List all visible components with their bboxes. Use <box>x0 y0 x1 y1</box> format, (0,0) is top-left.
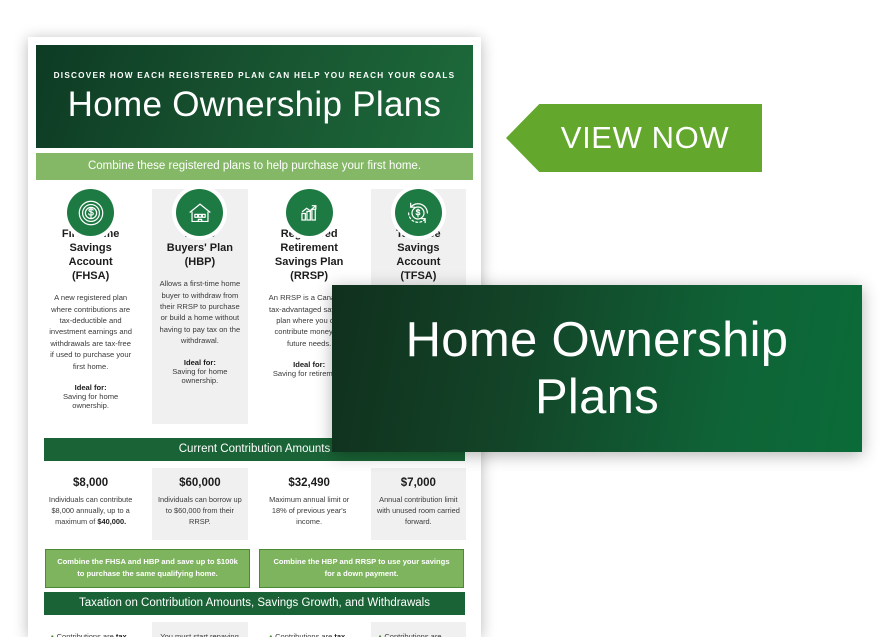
view-now-label: VIEW NOW <box>539 120 729 156</box>
taxation-band: Taxation on Contribution Amounts, Saving… <box>44 592 465 615</box>
bullet-icon: • <box>51 631 54 637</box>
hero-kicker: DISCOVER HOW EACH REGISTERED PLAN CAN HE… <box>54 71 456 80</box>
plan-ideal-text: Saving for home ownership. <box>158 367 241 385</box>
amount-description: Individuals can contribute $8,000 annual… <box>48 494 133 527</box>
amount-description: Individuals can borrow up to $60,000 fro… <box>157 494 242 527</box>
amounts-row: $8,000 Individuals can contribute $8,000… <box>36 468 473 540</box>
taxation-item: •Contributions are NOT tax deductible. <box>379 631 459 637</box>
taxation-item: •Contributions are tax deductible. <box>51 631 131 637</box>
plan-icon-wrap <box>36 189 145 236</box>
amount-cell-rrsp: $32,490 Maximum annual limit or 18% of p… <box>255 468 364 540</box>
taxation-item: •Contributions are tax deductible. <box>270 631 350 637</box>
plan-description: Allows a first-time home buyer to withdr… <box>158 278 241 346</box>
plan-icon-wrap <box>255 189 364 236</box>
taxation-item: You must start repaying your RRSP withdr… <box>160 631 240 637</box>
amount-value: $8,000 <box>48 477 133 489</box>
amount-description: Annual contribution limit with unused ro… <box>376 494 461 527</box>
taxation-cell-fhsa: •Contributions are tax deductible. •Savi… <box>36 622 145 637</box>
plan-description: A new registered plan where contribution… <box>49 292 132 372</box>
plan-ideal-text: Saving for home ownership. <box>49 392 132 410</box>
view-now-ribbon[interactable]: VIEW NOW <box>506 104 762 172</box>
taxation-row: •Contributions are tax deductible. •Savi… <box>36 622 473 637</box>
combine-tip-hbp-rrsp[interactable]: Combine the HBP and RRSP to use your sav… <box>259 549 464 588</box>
combine-tip-fhsa-hbp[interactable]: Combine the FHSA and HBP and save up to … <box>45 549 250 588</box>
hero-title: Home Ownership Plans <box>68 87 442 122</box>
amount-value: $32,490 <box>267 477 352 489</box>
amount-cell-tfsa: $7,000 Annual contribution limit with un… <box>364 468 473 540</box>
house-icon <box>176 189 223 236</box>
taxation-cell-tfsa: •Contributions are NOT tax deductible. •… <box>364 622 473 637</box>
amount-cell-fhsa: $8,000 Individuals can contribute $8,000… <box>36 468 145 540</box>
taxation-cell-hbp: You must start repaying your RRSP withdr… <box>145 622 254 637</box>
overlay-title: Home Ownership Plans <box>386 312 809 426</box>
plan-column-fhsa[interactable]: First Home Savings Account (FHSA) A new … <box>36 189 145 434</box>
document-hero: DISCOVER HOW EACH REGISTERED PLAN CAN HE… <box>36 45 473 148</box>
dollar-coin-icon <box>67 189 114 236</box>
combine-tips-row: Combine the FHSA and HBP and save up to … <box>45 549 464 588</box>
dollar-refresh-icon <box>395 189 442 236</box>
amount-value: $60,000 <box>157 477 242 489</box>
plan-icon-wrap <box>364 189 473 236</box>
plan-column-hbp[interactable]: Home Buyers' Plan (HBP) Allows a first-t… <box>145 189 254 434</box>
hero-subbar: Combine these registered plans to help p… <box>36 153 473 180</box>
taxation-cell-rrsp: •Contributions are tax deductible. •Savi… <box>255 622 364 637</box>
plan-ideal-label: Ideal for: <box>158 358 241 367</box>
bar-chart-growth-icon <box>286 189 333 236</box>
bullet-icon: • <box>270 631 273 637</box>
amount-value: $7,000 <box>376 477 461 489</box>
plan-icon-wrap <box>145 189 254 236</box>
amount-cell-hbp: $60,000 Individuals can borrow up to $60… <box>145 468 254 540</box>
amount-description: Maximum annual limit or 18% of previous … <box>267 494 352 527</box>
overlay-title-card[interactable]: Home Ownership Plans <box>332 285 862 452</box>
bullet-icon: • <box>379 631 382 637</box>
plan-ideal-label: Ideal for: <box>49 383 132 392</box>
